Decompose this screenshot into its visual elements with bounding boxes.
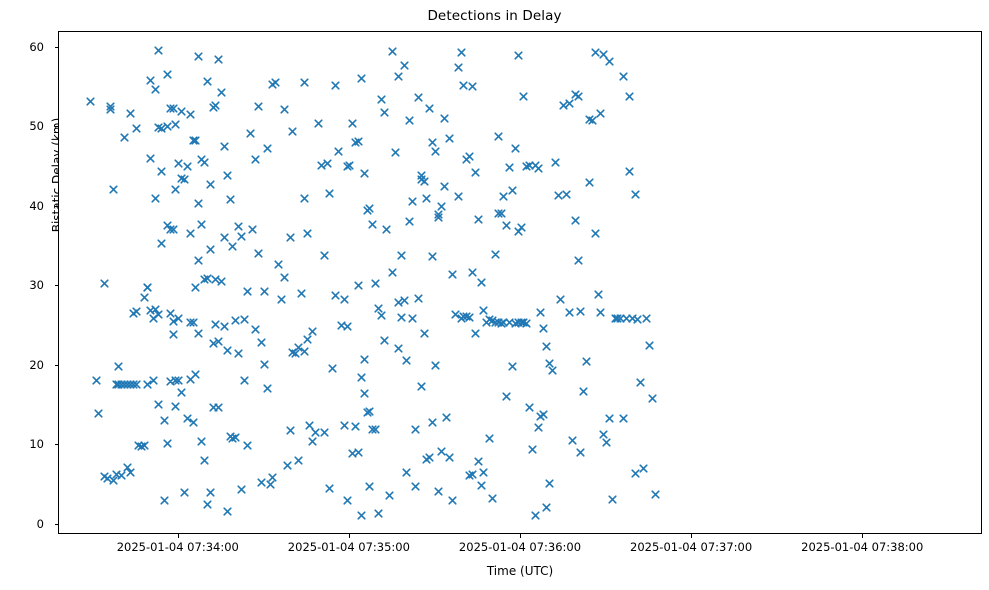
scatter-point [120,133,129,142]
scatter-point [482,318,491,327]
scatter-point [146,76,155,85]
scatter-point [246,129,255,138]
scatter-point [92,376,101,385]
scatter-point [300,347,309,356]
scatter-point [203,274,212,283]
scatter-point [237,485,246,494]
scatter-point [180,488,189,497]
matplotlib-figure: Detections in Delay Bistatic Delay (km) … [0,0,989,590]
scatter-point [365,204,374,213]
scatter-point [357,373,366,382]
scatter-point [274,260,283,269]
scatter-point [186,375,195,384]
scatter-point [525,403,534,412]
scatter-point [451,310,460,319]
scatter-point [160,416,169,425]
x-tick-label: 2025-01-04 07:36:00 [459,540,581,554]
scatter-point [502,392,511,401]
scatter-point [465,471,474,480]
scatter-point [143,283,152,292]
x-tick-mark [691,534,692,538]
scatter-point [166,309,175,318]
scatter-point [639,464,648,473]
scatter-point [277,295,286,304]
scatter-point [206,180,215,189]
scatter-point [112,380,121,389]
scatter-point [189,318,198,327]
scatter-point [114,380,123,389]
scatter-point [636,378,645,387]
scatter-point [343,162,352,171]
scatter-point [271,78,280,87]
scatter-point [305,421,314,430]
scatter-point [485,315,494,324]
scatter-point [642,314,651,323]
scatter-point [440,182,449,191]
scatter-point [311,428,320,437]
scatter-point [166,225,175,234]
scatter-point [200,158,209,167]
scatter-point [180,175,189,184]
scatter-point [169,225,178,234]
scatter-point [534,164,543,173]
scatter-point [471,329,480,338]
scatter-point [237,232,246,241]
scatter-point [151,85,160,94]
scatter-point [571,216,580,225]
y-tick-label: 0 [0,517,44,531]
scatter-point [417,175,426,184]
scatter-point [183,414,192,423]
scatter-point [454,192,463,201]
scatter-point [194,52,203,61]
scatter-point [380,108,389,117]
scatter-point [420,177,429,186]
scatter-point [505,163,514,172]
scatter-point [388,47,397,56]
scatter-point [394,298,403,307]
scatter-point [545,359,554,368]
scatter-point [591,48,600,57]
scatter-point [223,346,232,355]
scatter-point [171,120,180,129]
scatter-point [534,423,543,432]
scatter-point [189,136,198,145]
scatter-point [174,376,183,385]
scatter-point [494,132,503,141]
x-tick-mark [520,534,521,538]
scatter-point [619,414,628,423]
scatter-point [360,389,369,398]
scatter-point [337,321,346,330]
scatter-point [197,155,206,164]
scatter-point [457,48,466,57]
scatter-point [211,275,220,284]
scatter-point [194,256,203,265]
scatter-point [171,402,180,411]
scatter-point [177,388,186,397]
scatter-point [149,314,158,323]
scatter-point [154,123,163,132]
x-tick-mark [349,534,350,538]
scatter-point [331,81,340,90]
scatter-point [308,437,317,446]
scatter-point [448,496,457,505]
scatter-point [149,376,158,385]
scatter-point [254,249,263,258]
scatter-point [154,310,163,319]
scatter-point [448,270,457,279]
scatter-point [548,366,557,375]
scatter-point [585,178,594,187]
scatter-point [499,192,508,201]
scatter-point [340,295,349,304]
scatter-point [491,318,500,327]
scatter-point [417,382,426,391]
scatter-point [303,335,312,344]
scatter-point [231,433,240,442]
scatter-point [280,105,289,114]
x-tick-label: 2025-01-04 07:37:00 [630,540,752,554]
scatter-point [462,155,471,164]
scatter-point [514,51,523,60]
scatter-point [345,161,354,170]
scatter-point [522,319,531,328]
scatter-point [137,442,146,451]
scatter-point [357,511,366,520]
scatter-point [402,468,411,477]
scatter-point [542,503,551,512]
scatter-point [517,318,526,327]
scatter-point [408,197,417,206]
scatter-point [559,101,568,110]
scatter-point [434,210,443,219]
scatter-point [300,78,309,87]
scatter-point [651,490,660,499]
scatter-point [363,206,372,215]
scatter-point [400,61,409,70]
scatter-point [146,154,155,163]
scatter-point [217,88,226,97]
scatter-point [497,319,506,328]
scatter-point [163,122,172,131]
scatter-point [437,202,446,211]
scatter-point [594,290,603,299]
scatter-point [588,116,597,125]
scatter-point [414,93,423,102]
scatter-point [371,279,380,288]
scatter-point [186,318,195,327]
scatter-point [220,233,229,242]
scatter-point [574,92,583,101]
scatter-point [129,309,138,318]
scatter-point [197,220,206,229]
scatter-point [542,342,551,351]
scatter-point [132,307,141,316]
scatter-point [112,470,121,479]
scatter-point [354,448,363,457]
scatter-point [459,81,468,90]
scatter-point [625,92,634,101]
scatter-point [468,470,477,479]
scatter-point [325,484,334,493]
scatter-point [539,410,548,419]
scatter-point [442,413,451,422]
scatter-point [648,394,657,403]
scatter-point [474,457,483,466]
scatter-point [297,289,306,298]
scatter-point [268,473,277,482]
scatter-point [494,318,503,327]
scatter-point [508,362,517,371]
scatter-point [100,279,109,288]
scatter-point [434,213,443,222]
scatter-point [522,162,531,171]
scatter-point [171,376,180,385]
scatter-point [471,168,480,177]
scatter-point [132,380,141,389]
scatter-point [171,185,180,194]
scatter-point [494,209,503,218]
scatter-point [240,376,249,385]
scatter-point [497,209,506,218]
scatter-point [200,456,209,465]
scatter-point [223,171,232,180]
scatter-point [445,453,454,462]
scatter-point [351,138,360,147]
scatter-point [209,339,218,348]
scatter-point [491,250,500,259]
scatter-point [505,318,514,327]
scatter-point [488,316,497,325]
scatter-point [596,308,605,317]
scatter-point [645,341,654,350]
scatter-point [117,380,126,389]
scatter-point [525,161,534,170]
scatter-point [511,144,520,153]
scatter-point [191,370,200,379]
scatter-point [228,434,237,443]
scatter-point [231,316,240,325]
scatter-point [394,344,403,353]
scatter-point [126,468,135,477]
scatter-point [134,441,143,450]
scatter-point [374,509,383,518]
scatter-point [360,355,369,364]
scatter-point [126,109,135,118]
scatter-point [177,107,186,116]
scatter-point [454,63,463,72]
scatter-point [388,268,397,277]
scatter-point [465,313,474,322]
scatter-point [291,349,300,358]
scatter-point [220,142,229,151]
scatter-point [613,314,622,323]
scatter-point [334,147,343,156]
scatter-point [325,189,334,198]
scatter-point [459,312,468,321]
scatter-point [203,500,212,509]
scatter-point [562,190,571,199]
scatter-point [126,380,135,389]
scatter-point [243,441,252,450]
scatter-point [114,362,123,371]
scatter-point [579,387,588,396]
scatter-point [405,217,414,226]
scatter-point [217,277,226,286]
scatter-point [402,356,411,365]
scatter-point [608,495,617,504]
scatter-point [411,482,420,491]
plot-area[interactable] [58,31,982,534]
scatter-point [160,496,169,505]
scatter-point [585,115,594,124]
scatter-point [166,104,175,113]
scatter-point [368,425,377,434]
scatter-point [228,242,237,251]
scatter-point [243,287,252,296]
scatter-point [576,307,585,316]
scatter-point [380,336,389,345]
scatter-point [251,155,260,164]
scatter-point [163,70,172,79]
scatter-point [226,195,235,204]
scatter-point [294,343,303,352]
scatter-point [177,174,186,183]
scatter-point [477,278,486,287]
scatter-point [611,314,620,323]
scatter-point [554,191,563,200]
scatter-point [331,291,340,300]
scatter-point [140,441,149,450]
scatter-point [109,185,118,194]
scatter-point [203,77,212,86]
scatter-point [477,481,486,490]
scatter-point [286,426,295,435]
scatter-point [348,449,357,458]
page-title: Detections in Delay [0,8,989,24]
scatter-point [599,430,608,439]
scatter-point [283,461,292,470]
scatter-point [377,95,386,104]
scatter-point [354,137,363,146]
scatter-point [602,438,611,447]
scatter-point [123,380,132,389]
scatter-point [468,268,477,277]
scatter-point [317,161,326,170]
scatter-point [422,455,431,464]
scatter-point [385,491,394,500]
scatter-point [214,55,223,64]
scatter-point [211,101,220,110]
scatter-point [288,127,297,136]
scatter-point [191,283,200,292]
scatter-point [377,311,386,320]
scatter-point [174,159,183,168]
scatter-point [157,124,166,133]
scatter-point [94,409,103,418]
scatter-point [194,199,203,208]
scatter-point [479,306,488,315]
scatter-point [257,478,266,487]
scatter-point [428,138,437,147]
scatter-point [411,425,420,434]
scatter-point [117,471,126,480]
scatter-point [240,315,249,324]
scatter-point [605,57,614,66]
scatter-point [485,434,494,443]
scatter-points-layer [59,32,981,533]
scatter-point [328,364,337,373]
y-tick-label: 30 [0,278,44,292]
scatter-point [519,318,528,327]
scatter-point [320,251,329,260]
scatter-point [191,136,200,145]
scatter-point [280,273,289,282]
scatter-point [468,82,477,91]
scatter-point [397,313,406,322]
y-tick-label: 40 [0,199,44,213]
scatter-point [197,437,206,446]
y-tick-label: 20 [0,358,44,372]
scatter-point [189,418,198,427]
scatter-point [226,432,235,441]
scatter-point [417,171,426,180]
scatter-point [288,348,297,357]
scatter-point [200,275,209,284]
x-tick-label: 2025-01-04 07:34:00 [117,540,239,554]
scatter-point [363,408,372,417]
scatter-point [576,448,585,457]
scatter-point [106,105,115,114]
y-tick-label: 10 [0,437,44,451]
scatter-point [169,104,178,113]
scatter-point [157,239,166,248]
scatter-point [539,324,548,333]
scatter-point [394,72,403,81]
scatter-point [163,439,172,448]
scatter-point [357,74,366,83]
scatter-point [174,314,183,323]
scatter-point [254,102,263,111]
scatter-point [428,418,437,427]
scatter-point [631,190,640,199]
scatter-point [391,148,400,157]
scatter-point [343,496,352,505]
scatter-point [151,194,160,203]
scatter-point [502,221,511,230]
scatter-point [266,480,275,489]
scatter-point [123,463,132,472]
scatter-point [120,380,129,389]
scatter-point [571,90,580,99]
scatter-point [294,456,303,465]
scatter-point [220,322,229,331]
scatter-point [499,318,508,327]
scatter-point [368,220,377,229]
scatter-point [340,421,349,430]
scatter-point [633,315,642,324]
scatter-point [408,314,417,323]
scatter-point [514,227,523,236]
scatter-point [528,445,537,454]
scatter-point [605,414,614,423]
scatter-point [260,360,269,369]
scatter-point [166,377,175,386]
scatter-point [551,158,560,167]
scatter-point [132,124,141,133]
scatter-point [365,407,374,416]
